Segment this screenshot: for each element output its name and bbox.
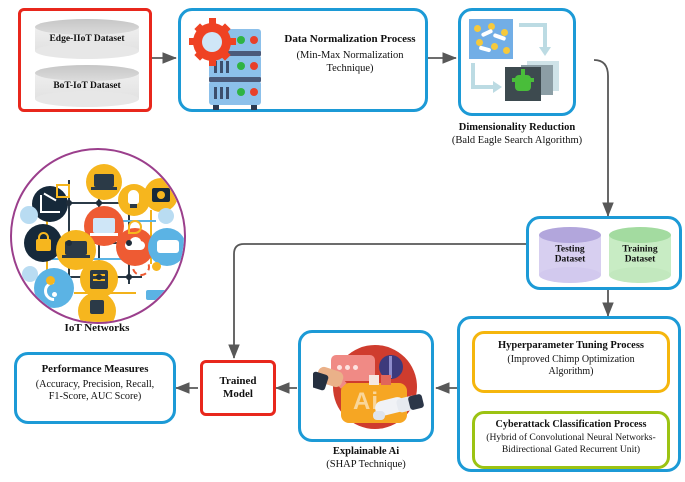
normalization-subtitle-2: Technique) <box>277 63 423 76</box>
tuning-title: Hyperparameter Tuning Process <box>475 340 667 352</box>
trained-model-box: Trained Model <box>200 360 276 416</box>
iot-network-icon <box>12 150 184 322</box>
dimensionality-reduction-caption: Dimensionality Reduction (Bald Eagle Sea… <box>404 122 630 148</box>
tuning-subtitle-2: Algorithm) <box>475 366 667 378</box>
trained-model-line2: Model <box>223 388 253 400</box>
dimensionality-reduction-box <box>458 8 576 116</box>
performance-subtitle-1: (Accuracy, Precision, Recall, <box>17 379 173 391</box>
iot-networks-caption: IoT Networks <box>16 322 178 335</box>
data-reduction-icon <box>469 19 569 111</box>
explainable-ai-icon: Ai <box>313 339 425 439</box>
explainable-caption-title: Explainable Ai <box>288 446 444 459</box>
performance-measures-box: Performance Measures (Accuracy, Precisio… <box>14 352 176 424</box>
classification-subtitle-2: Bidirectional Gated Recurrent Unit) <box>475 444 667 456</box>
cylinder-top <box>539 227 601 243</box>
training-label-line1: Training <box>622 245 657 255</box>
node-small-bubble <box>22 266 38 282</box>
dataset-label: BoT-IoT Dataset <box>35 81 139 91</box>
cylinder-top <box>609 227 671 243</box>
testing-dataset-cylinder: Testing Dataset <box>539 227 601 283</box>
dataset-split-box: Testing Dataset Training Dataset <box>526 216 682 290</box>
performance-title: Performance Measures <box>17 363 173 376</box>
server-gear-icon <box>193 21 269 105</box>
model-pipeline-container: Hyperparameter Tuning Process (Improved … <box>457 316 681 472</box>
dataset-label: Edge-IIoT Dataset <box>35 34 139 44</box>
node-small-dot-a <box>46 276 55 285</box>
dataset-cylinder-edge-iiot: Edge-IIoT Dataset <box>35 19 139 59</box>
training-dataset-label: Training Dataset <box>609 245 671 266</box>
explainable-ai-box: Ai <box>298 330 434 442</box>
dimensionality-caption-sub: (Bald Eagle Search Algorithm) <box>404 135 630 148</box>
cylinder-top <box>35 19 139 35</box>
tuning-subtitle-1: (Improved Chimp Optimization <box>475 354 667 366</box>
cylinder-top <box>35 65 139 81</box>
testing-label-line1: Testing <box>555 245 584 255</box>
node-small-dot-b <box>152 262 161 271</box>
explainable-ai-caption: Explainable Ai (SHAP Technique) <box>288 446 444 472</box>
iot-networks-circle <box>10 148 186 324</box>
cyberattack-classification-box: Cyberattack Classification Process (Hybr… <box>472 411 670 469</box>
training-label-line2: Dataset <box>625 255 656 265</box>
cylinder-bottom <box>539 267 601 283</box>
hyperparameter-tuning-box: Hyperparameter Tuning Process (Improved … <box>472 331 670 393</box>
data-normalization-box: Data Normalization Process (Min-Max Norm… <box>178 8 428 112</box>
classification-subtitle-1: (Hybrid of Convolutional Neural Networks… <box>475 432 667 444</box>
normalization-subtitle-1: (Min-Max Normalization <box>277 50 423 63</box>
trained-model-label: Trained Model <box>219 375 256 401</box>
diagram-canvas: Edge-IIoT Dataset BoT-IoT Dataset <box>0 0 685 482</box>
performance-subtitle-2: F1-Score, AUC Score) <box>17 391 173 403</box>
node-small-search <box>20 206 38 224</box>
cylinder-bottom <box>35 43 139 59</box>
trained-model-line1: Trained <box>219 375 256 387</box>
dataset-cylinder-bot-iot: BoT-IoT Dataset <box>35 65 139 107</box>
cylinder-bottom <box>35 91 139 107</box>
datasets-box: Edge-IIoT Dataset BoT-IoT Dataset <box>18 8 152 112</box>
node-small-gear <box>158 208 174 224</box>
testing-label-line2: Dataset <box>555 255 586 265</box>
explainable-caption-sub: (SHAP Technique) <box>288 459 444 472</box>
normalization-title: Data Normalization Process <box>277 33 423 46</box>
cylinder-bottom <box>609 267 671 283</box>
training-dataset-cylinder: Training Dataset <box>609 227 671 283</box>
testing-dataset-label: Testing Dataset <box>539 245 601 266</box>
classification-title: Cyberattack Classification Process <box>475 419 667 431</box>
dimensionality-caption-title: Dimensionality Reduction <box>404 122 630 135</box>
